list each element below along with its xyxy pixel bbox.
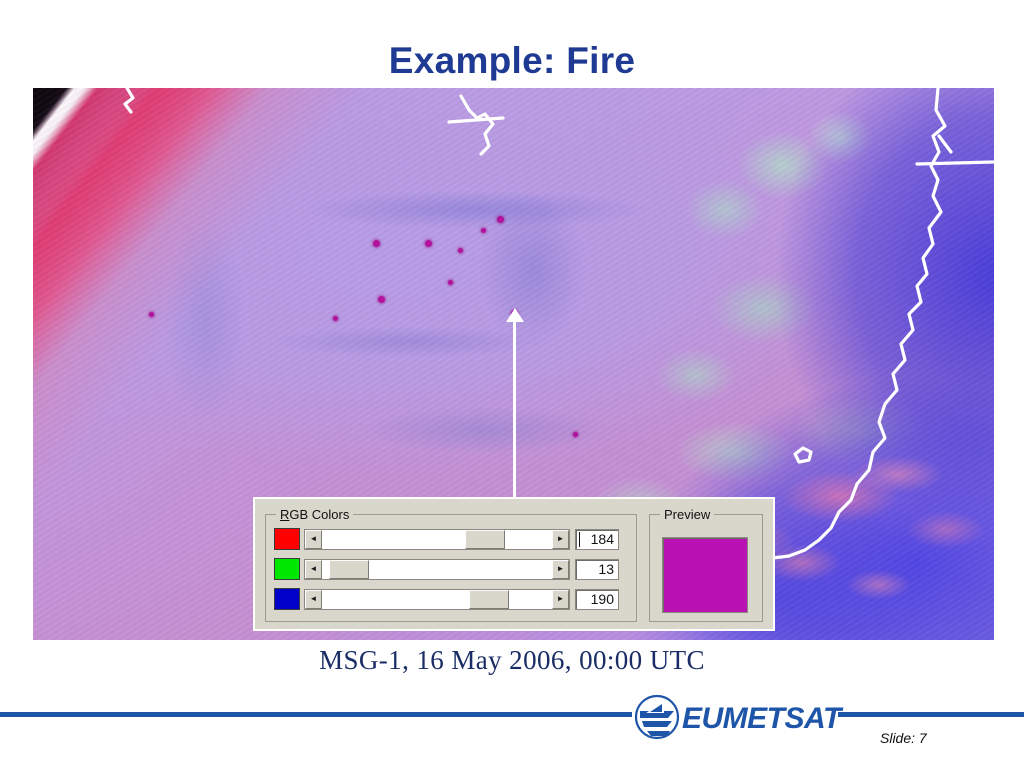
red-value-field[interactable]: 184 bbox=[575, 529, 619, 550]
rgb-colors-accel-key: R bbox=[280, 507, 289, 522]
eumetsat-logo: EUMETSAT bbox=[634, 694, 844, 740]
fire-pixel bbox=[149, 312, 154, 317]
fire-pixel bbox=[573, 432, 578, 437]
slide-number: Slide: 7 bbox=[880, 730, 1000, 746]
preview-group-label: Preview bbox=[660, 507, 714, 522]
red-track[interactable] bbox=[322, 530, 552, 549]
blue-scrollbar[interactable]: ◄ ► bbox=[304, 589, 570, 610]
red-thumb[interactable] bbox=[465, 530, 505, 549]
red-decrement-arrow-icon[interactable]: ◄ bbox=[305, 530, 322, 549]
channel-row-green: ◄ ► 13 bbox=[274, 557, 619, 581]
annotation-arrow-head bbox=[506, 308, 524, 322]
image-caption: MSG-1, 16 May 2006, 00:00 UTC bbox=[0, 645, 1024, 676]
fire-pixel bbox=[497, 216, 504, 223]
annotation-arrow-shaft bbox=[513, 320, 516, 510]
green-swatch bbox=[274, 558, 300, 580]
green-increment-arrow-icon[interactable]: ► bbox=[552, 560, 569, 579]
slide: Example: Fire bbox=[0, 0, 1024, 768]
rgb-colors-group-label: RGB Colors bbox=[276, 507, 353, 522]
fire-pixel bbox=[458, 248, 463, 253]
blue-decrement-arrow-icon[interactable]: ◄ bbox=[305, 590, 322, 609]
preview-color-swatch bbox=[662, 537, 748, 613]
page-title: Example: Fire bbox=[0, 40, 1024, 82]
fire-pixel bbox=[448, 280, 453, 285]
green-value-field[interactable]: 13 bbox=[575, 559, 619, 580]
red-scrollbar[interactable]: ◄ ► bbox=[304, 529, 570, 550]
fire-pixel bbox=[333, 316, 338, 321]
green-scrollbar[interactable]: ◄ ► bbox=[304, 559, 570, 580]
svg-text:EUMETSAT: EUMETSAT bbox=[682, 702, 844, 735]
fire-pixel bbox=[481, 228, 486, 233]
preview-groupbox: Preview bbox=[649, 514, 763, 622]
channel-row-red: ◄ ► 184 bbox=[274, 527, 619, 551]
fire-pixel bbox=[425, 240, 432, 247]
red-swatch bbox=[274, 528, 300, 550]
blue-thumb[interactable] bbox=[469, 590, 509, 609]
green-decrement-arrow-icon[interactable]: ◄ bbox=[305, 560, 322, 579]
blue-increment-arrow-icon[interactable]: ► bbox=[552, 590, 569, 609]
green-thumb[interactable] bbox=[329, 560, 369, 579]
footer-rule-right bbox=[838, 712, 1024, 717]
channel-row-blue: ◄ ► 190 bbox=[274, 587, 619, 611]
fire-pixel bbox=[373, 240, 380, 247]
footer-rule-left bbox=[0, 712, 632, 717]
eumetsat-logo-svg: EUMETSAT bbox=[634, 694, 844, 740]
red-increment-arrow-icon[interactable]: ► bbox=[552, 530, 569, 549]
green-track[interactable] bbox=[322, 560, 552, 579]
blue-value-field[interactable]: 190 bbox=[575, 589, 619, 610]
blue-swatch bbox=[274, 588, 300, 610]
rgb-colors-dialog[interactable]: RGB Colors ◄ ► 184 ◄ bbox=[253, 497, 775, 631]
fire-pixel bbox=[378, 296, 385, 303]
rgb-colors-groupbox: RGB Colors ◄ ► 184 ◄ bbox=[265, 514, 637, 622]
blue-track[interactable] bbox=[322, 590, 552, 609]
rgb-colors-label-rest: GB Colors bbox=[289, 507, 349, 522]
